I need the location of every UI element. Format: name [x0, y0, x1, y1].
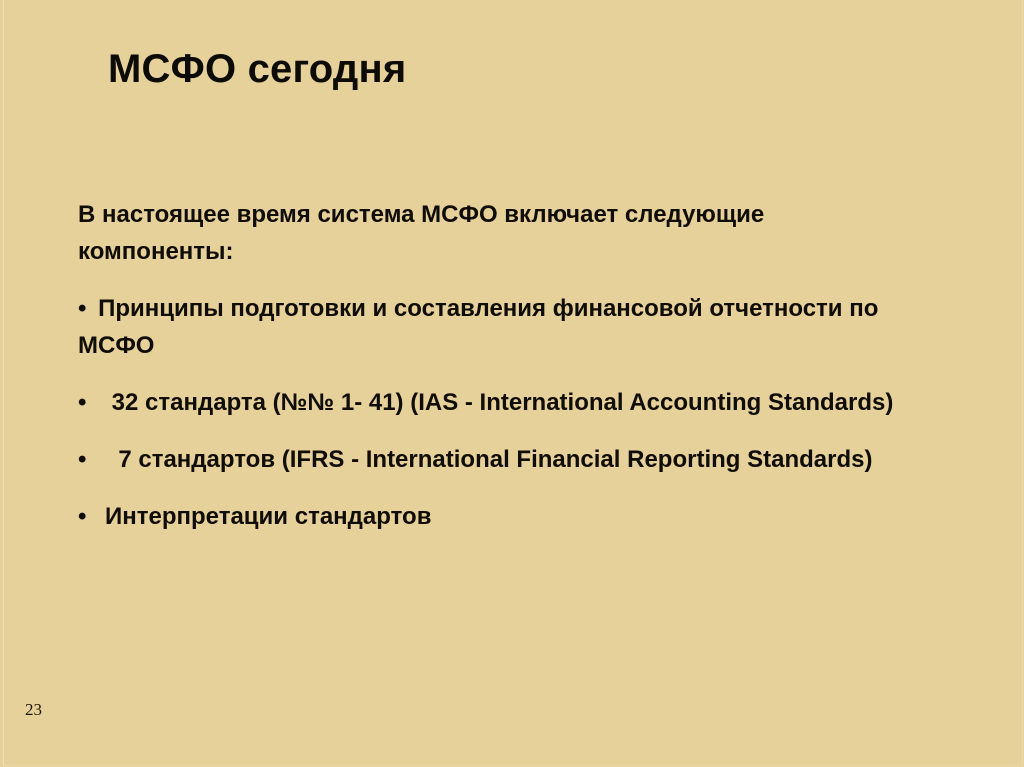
list-item: • 7 стандартов (IFRS - International Fin…: [78, 441, 916, 478]
slide-title: МСФО сегодня: [108, 46, 928, 92]
list-item-label: 7 стандартов (IFRS - International Finan…: [105, 446, 872, 473]
list-item: • Интерпретации стандартов: [78, 498, 916, 535]
intro-paragraph: В настоящее время система МСФО включает …: [78, 196, 888, 270]
list-item: • 32 стандарта (№№ 1- 41) (IAS - Interna…: [78, 384, 916, 421]
bullet-dot-icon: •: [78, 498, 86, 535]
bullet-dot-icon: •: [78, 384, 86, 421]
list-item-label: Интерпретации стандартов: [105, 503, 431, 530]
list-item-label: 32 стандарта (№№ 1- 41) (IAS - Internati…: [105, 389, 893, 416]
bullet-list: • Принципы подготовки и составления фина…: [78, 290, 916, 535]
slide-body: В настоящее время система МСФО включает …: [78, 196, 916, 535]
presentation-slide: МСФО сегодня В настоящее время система М…: [0, 0, 1024, 767]
bullet-dot-icon: •: [78, 295, 86, 322]
page-number: 23: [25, 700, 42, 720]
list-item: • Принципы подготовки и составления фина…: [78, 290, 916, 364]
list-item-label: Принципы подготовки и составления финанс…: [78, 295, 885, 359]
bullet-dot-icon: •: [78, 441, 86, 478]
